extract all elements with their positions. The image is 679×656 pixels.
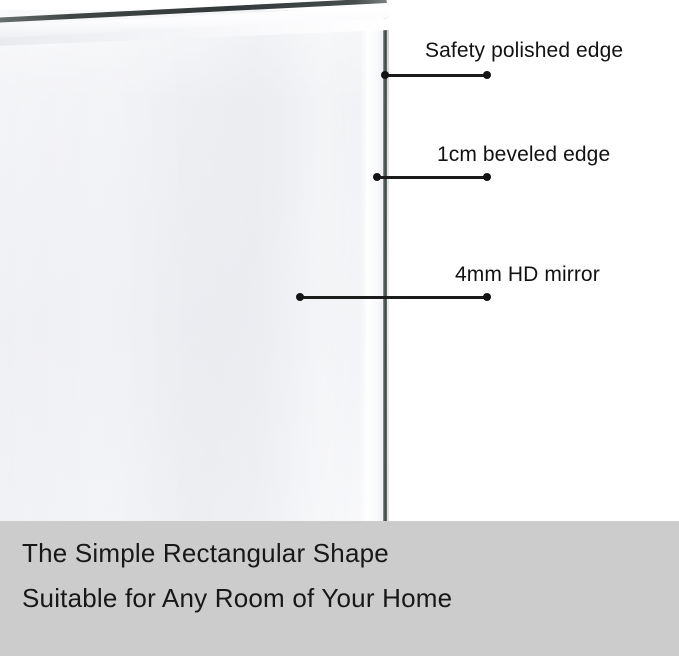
caption-line-1: The Simple Rectangular Shape <box>22 538 389 569</box>
leader-dot-end-beveled-edge <box>483 173 491 181</box>
callout-label-beveled-edge: 1cm beveled edge <box>437 143 610 167</box>
caption-line-2: Suitable for Any Room of Your Home <box>22 583 452 614</box>
leader-dot-end-hd-mirror <box>483 293 491 301</box>
mirror-photo-stage: Safety polished edge 1cm beveled edge 4m… <box>0 0 679 521</box>
mirror-right-polished-edge <box>383 16 387 521</box>
product-infographic: Safety polished edge 1cm beveled edge 4m… <box>0 0 679 656</box>
mirror-right-edge-glint <box>387 16 389 521</box>
leader-dot-start-safety-polished-edge <box>381 71 389 79</box>
leader-dot-start-beveled-edge <box>373 173 381 181</box>
mirror-glass-surface <box>0 10 368 521</box>
callout-label-safety-polished-edge: Safety polished edge <box>425 39 623 63</box>
leader-line-safety-polished-edge <box>385 74 487 77</box>
leader-line-beveled-edge <box>377 176 487 179</box>
leader-dot-end-safety-polished-edge <box>483 71 491 79</box>
callout-label-hd-mirror: 4mm HD mirror <box>455 263 600 287</box>
